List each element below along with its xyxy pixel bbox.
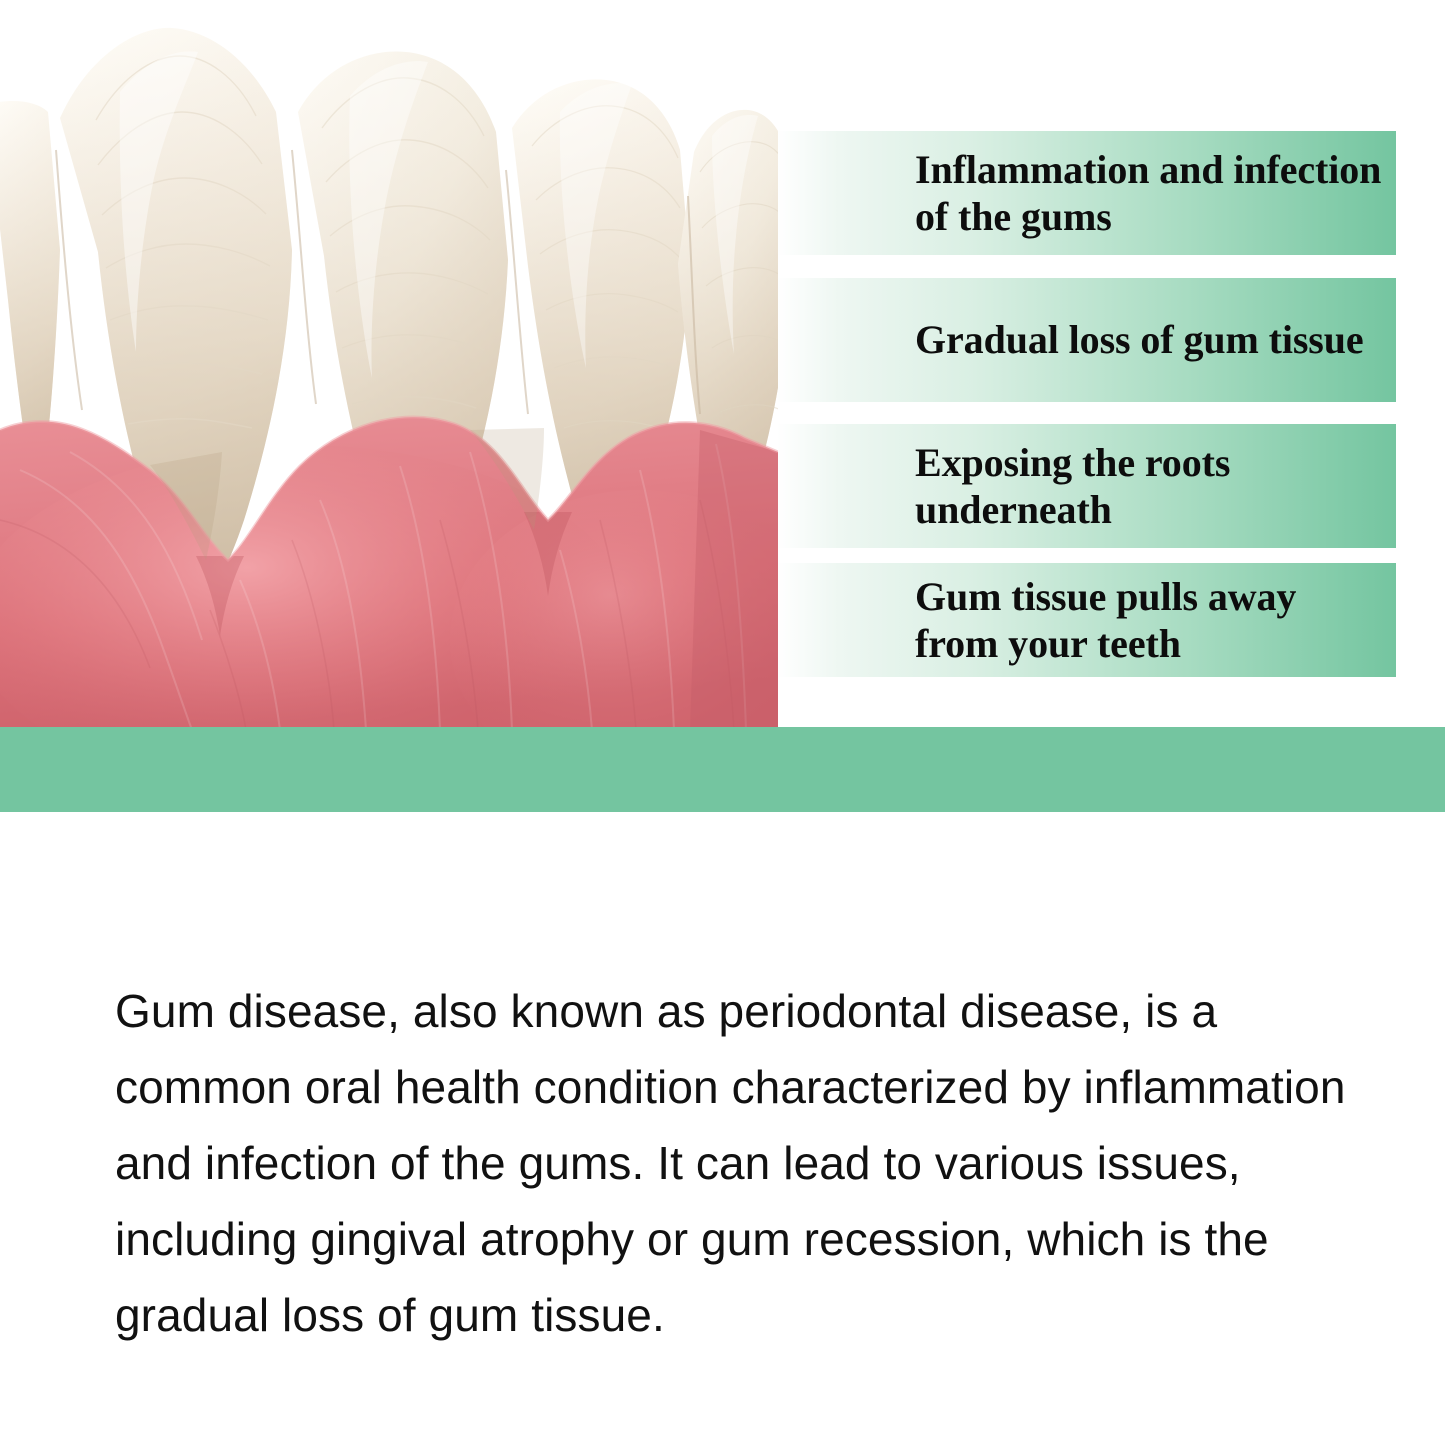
banner-label: Gradual loss of gum tissue: [777, 316, 1374, 363]
banner-item-gum-pullaway: Gum tissue pulls away from your teeth: [777, 563, 1396, 677]
teeth-gums-illustration: [0, 0, 778, 730]
banner-label: Exposing the roots underneath: [777, 439, 1396, 533]
banner-item-inflammation: Inflammation and infection of the gums: [777, 131, 1396, 255]
gum-tissue-group: [0, 417, 778, 730]
green-divider-bar: [0, 727, 1445, 812]
infographic-page: Inflammation and infection of the gums G…: [0, 0, 1445, 1445]
banner-item-exposed-roots: Exposing the roots underneath: [777, 424, 1396, 548]
banner-item-gum-loss: Gradual loss of gum tissue: [777, 278, 1396, 402]
banner-label: Inflammation and infection of the gums: [777, 146, 1396, 240]
description-section: Gum disease, also known as periodontal d…: [0, 812, 1445, 1445]
banner-label: Gum tissue pulls away from your teeth: [777, 573, 1396, 667]
description-paragraph: Gum disease, also known as periodontal d…: [115, 973, 1370, 1353]
hero-section: Inflammation and infection of the gums G…: [0, 0, 1445, 812]
